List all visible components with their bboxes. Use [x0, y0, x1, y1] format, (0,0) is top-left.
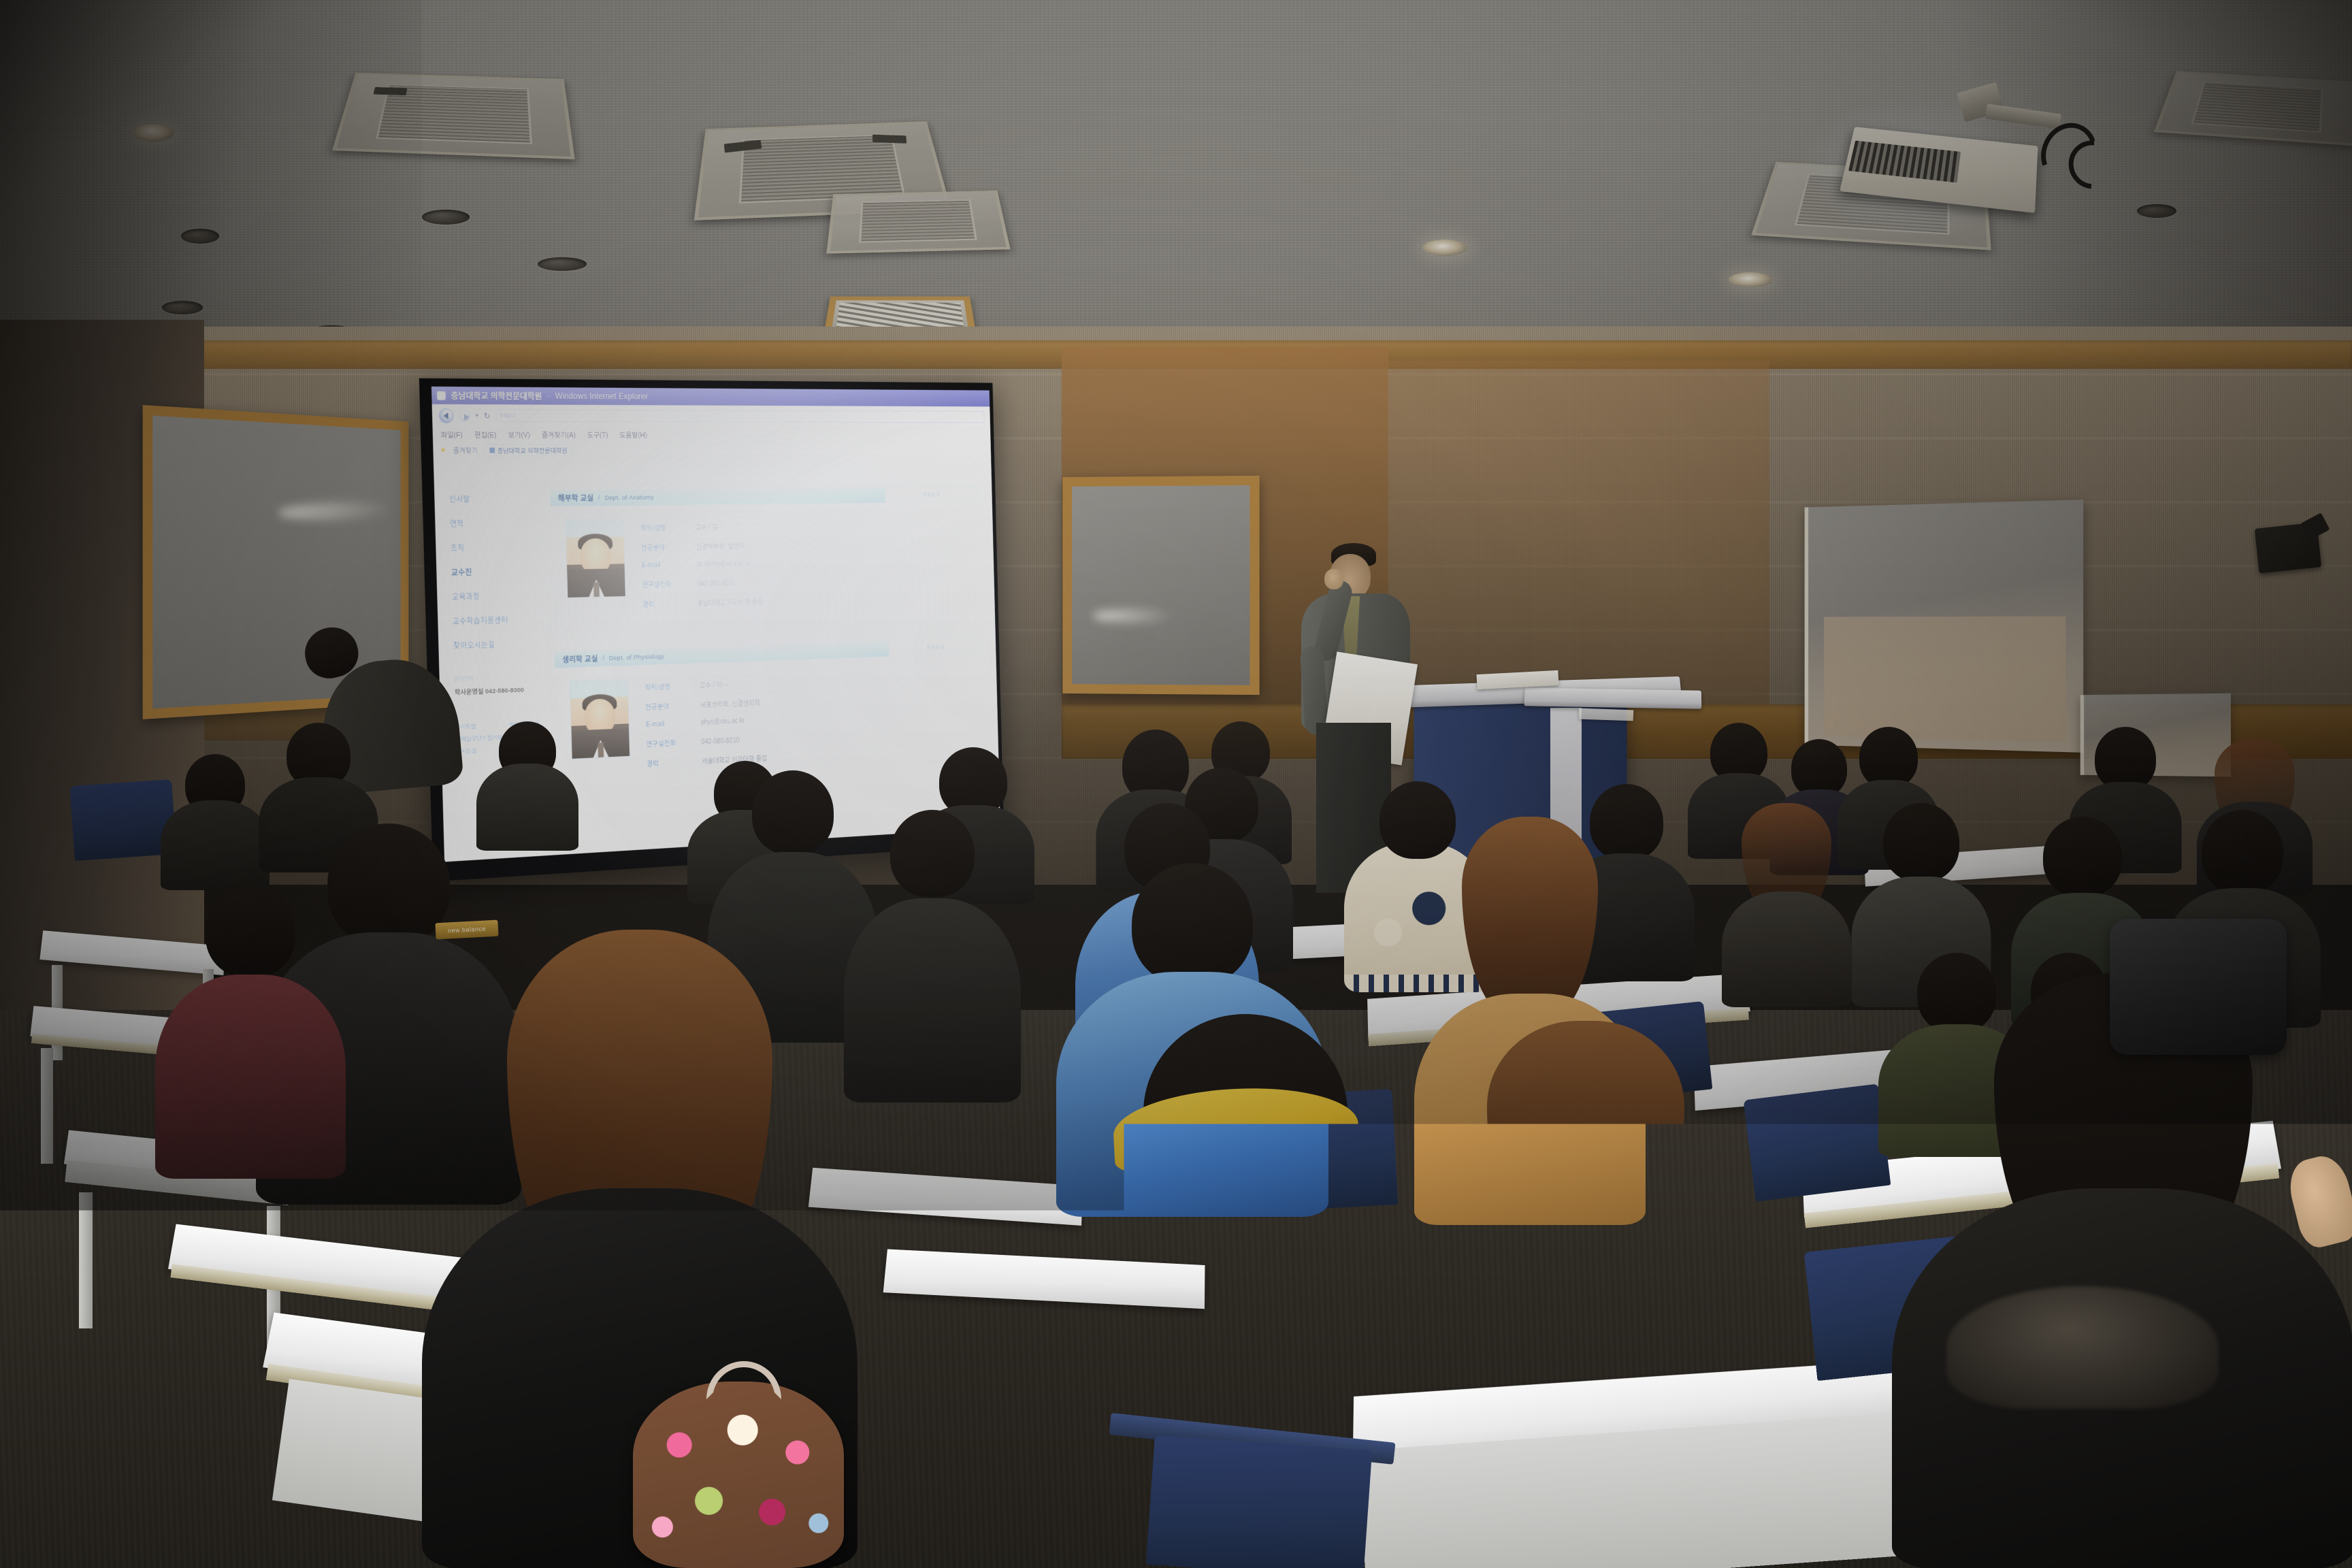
person-head [2202, 810, 2283, 894]
forward-arrow-icon[interactable] [459, 410, 470, 421]
person-torso [161, 800, 269, 890]
field-label-email: E-mail [642, 561, 681, 570]
refresh-icon[interactable]: ↻ [484, 411, 491, 421]
person-head [890, 810, 975, 897]
ie-logo-icon [437, 391, 446, 399]
person-head [206, 886, 295, 977]
section-list-button[interactable]: 목록보기 [885, 487, 977, 503]
faculty-field-row: 전공분야 세포생리학, 신경생리학 [645, 697, 766, 712]
desk-leg [41, 1048, 53, 1164]
field-value-email: anatomy@cnu.ac.kr [696, 560, 751, 568]
faculty-field-row: E-mail phys@cnu.ac.kr [646, 717, 766, 729]
favorites-chip[interactable]: 충남대학교 의학전문대학원 [484, 444, 572, 456]
section-title-korean: 생리학 교실 [562, 653, 598, 665]
window-title-app: Windows Internet Explorer [555, 391, 648, 401]
faculty-profile-row: 직위/성명 교수 / 김○○ 전공분야 신경해부학, 발생학 E-mail an… [551, 502, 980, 621]
star-icon[interactable]: ★ [440, 446, 446, 455]
field-label-email: E-mail [646, 720, 685, 729]
presenter-hand [1324, 569, 1343, 589]
section-title-separator: / [598, 494, 600, 502]
menu-item-favorites[interactable]: 즐겨찾기(A) [542, 430, 576, 440]
recessed-downlight [1729, 272, 1772, 287]
ac-vane [872, 135, 906, 144]
faculty-field-row: 경력 충남대학교 의과대학 졸업 [642, 596, 763, 609]
field-value-position: 교수 / 이○○ [700, 679, 730, 690]
ceiling-ac-cassette-unit [826, 191, 1010, 254]
purple-bag-buckle [1714, 1328, 1738, 1353]
favorites-label[interactable]: 즐겨찾기 [453, 445, 478, 455]
faculty-field-row: 연구실전화 042-580-8201 [642, 576, 762, 589]
person-head [1132, 863, 1253, 985]
section-title-separator: / [602, 654, 604, 662]
menu-item-tools[interactable]: 도구(T) [587, 430, 608, 440]
field-value-career: 충남대학교 의과대학 졸업 [698, 596, 764, 608]
person-long-hair [1462, 817, 1598, 1021]
fur-collar [1946, 1286, 2219, 1409]
audience-person-fur-collar-front [1892, 973, 2352, 1568]
faculty-field-row: 직위/성명 교수 / 이○○ [644, 678, 765, 692]
person-head [2043, 817, 2122, 897]
whiteboard-glare [1093, 609, 1174, 623]
field-label-career: 경력 [647, 757, 685, 768]
pulldown-projection-screen[interactable] [1805, 500, 2084, 753]
browser-favorites-bar: ★ 즐겨찾기 충남대학교 의학전문대학원 [433, 442, 991, 459]
window-title-separator: - [547, 391, 550, 401]
faculty-portrait-photo [565, 519, 625, 598]
field-value-email: phys@cnu.ac.kr [700, 717, 745, 726]
dark-backpack [2110, 919, 2287, 1055]
whiteboard [1062, 476, 1259, 695]
recessed-downlight [1422, 240, 1467, 256]
window-title-korean: 충남대학교 의학전문대학원 [451, 390, 542, 402]
field-label-position: 직위/성명 [644, 681, 683, 692]
section-list-button[interactable]: 목록보기 [889, 638, 981, 657]
section-title-english: Dept. of Anatomy [604, 493, 653, 501]
person-head [2095, 727, 2156, 791]
paisley-backpack [633, 1382, 844, 1568]
portrait-tie [598, 742, 604, 757]
field-value-office-phone: 042-580-8201 [697, 580, 736, 588]
field-label-specialty: 전공분야 [641, 542, 680, 552]
podium-papers [1579, 708, 1634, 721]
field-value-specialty: 세포생리학, 신경생리학 [700, 697, 760, 709]
favorites-chip-label: 충남대학교 의학전문대학원 [497, 445, 568, 455]
screen-lower-panel [1824, 616, 2066, 742]
audience-person [844, 810, 1021, 1102]
audience-person-maroon-jacket [155, 886, 346, 1179]
faculty-field-row: 연구실전화 042-580-8210 [646, 733, 766, 749]
chevron-down-icon[interactable]: ▾ [475, 412, 478, 419]
person-torso [844, 898, 1021, 1102]
section-title-korean: 해부학 교실 [558, 493, 594, 504]
field-label-position: 직위/성명 [640, 522, 679, 532]
field-value-office-phone: 042-580-8210 [701, 737, 740, 746]
portrait-tie [593, 582, 600, 597]
address-bar-input[interactable]: http:// [495, 409, 985, 423]
faculty-portrait-photo [570, 679, 630, 759]
whiteboard-glare [278, 501, 393, 522]
back-arrow-icon[interactable] [439, 408, 454, 423]
faculty-field-row: 직위/성명 교수 / 김○○ [640, 521, 761, 532]
lecture-hall-scene: 충남대학교 의학전문대학원 - Windows Internet Explore… [0, 0, 2352, 1568]
wall-speaker [2255, 522, 2321, 573]
field-label-career: 경력 [642, 598, 681, 609]
person-head [752, 770, 834, 855]
person-torso [155, 975, 346, 1179]
browser-navigation-bar: ▾ ↻ http:// [432, 404, 990, 428]
recessed-downlight [538, 257, 587, 271]
sidebar-item-greeting[interactable]: 인사말 [449, 493, 546, 504]
person-torso [1722, 892, 1851, 1007]
audience-person [1722, 803, 1851, 1007]
faculty-field-row: E-mail anatomy@cnu.ac.kr [642, 560, 762, 570]
sidebar-item-teaching-center[interactable]: 교수학습지원센터 [453, 613, 550, 627]
faculty-field-row: 전공분야 신경해부학, 발생학 [641, 540, 762, 552]
field-value-specialty: 신경해부학, 발생학 [696, 540, 745, 551]
projector-vent [1848, 141, 1961, 183]
menu-item-file[interactable]: 파일(F) [440, 429, 462, 440]
field-label-office-phone: 연구실전화 [642, 578, 681, 589]
field-label-specialty: 전공분야 [645, 700, 684, 712]
menu-item-edit[interactable]: 편집(E) [474, 429, 497, 440]
faculty-field-list: 직위/성명 교수 / 김○○ 전공분야 신경해부학, 발생학 E-mail an… [640, 517, 764, 619]
recessed-downlight [422, 210, 470, 225]
ac-grille [859, 199, 977, 242]
site-favicon-icon [489, 447, 495, 453]
sidebar-item-curriculum[interactable]: 교육과정 [452, 589, 549, 602]
menu-item-help[interactable]: 도움말(H) [619, 430, 647, 440]
browser-titlebar: 충남대학교 의학전문대학원 - Windows Internet Explore… [431, 387, 990, 407]
person-head [1883, 803, 1959, 882]
audience-person [161, 754, 269, 890]
field-label-office-phone: 연구실전화 [646, 737, 685, 749]
chair[interactable] [1744, 1083, 1891, 1201]
menu-item-view[interactable]: 보기(V) [508, 429, 530, 440]
desk-leg [79, 1192, 93, 1328]
person-torso [1028, 1188, 1463, 1568]
person-head [327, 823, 450, 946]
section-title-english: Dept. of Physiology [609, 653, 664, 661]
person-head [1859, 727, 1918, 788]
field-value-position: 교수 / 김○○ [696, 521, 725, 532]
podium-worktop-extension [1524, 687, 1701, 708]
browser-menubar: 파일(F) 편집(E) 보기(V) 즐겨찾기(A) 도구(T) 도움말(H) [433, 427, 991, 442]
sidebar-item-history[interactable]: 연혁 [450, 517, 547, 529]
